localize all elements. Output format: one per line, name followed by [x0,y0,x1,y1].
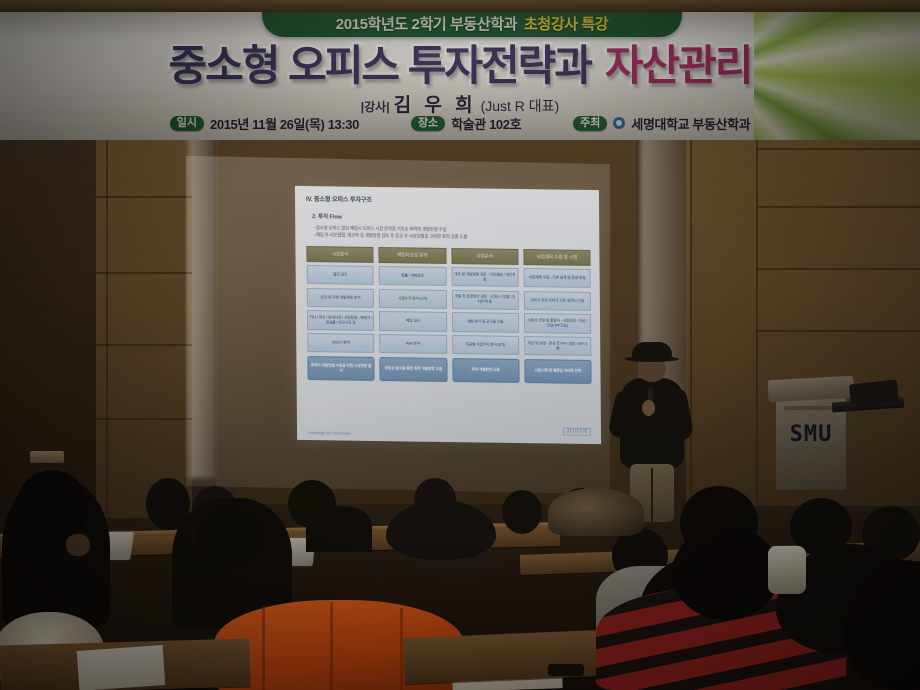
fur-trimmed-hood [548,488,644,536]
presenter-hat-brim [625,356,679,362]
podium-groove [784,406,838,410]
date-value: 2015년 11월 26일(목) 13:30 [210,114,359,133]
flow-cell: 개요 및 개발방향 검토 - 리모델링 / 재건축 등 [451,267,518,287]
wall-seam [96,196,192,198]
justr-logo: JUSTR [563,428,591,436]
wall-vertical-seam [106,122,108,514]
white-sleeve [768,546,806,594]
flow-cell: 물건 검토 [307,265,374,285]
flow-cell: 법률 / 세제검토 [379,266,446,286]
wall-outlet [30,451,64,463]
presentation-slide: IV. 중소형 오피스 투자구조 2. 투자 Flow 중소형 오피스 빌딩 매… [295,186,601,444]
flow-conclusion-cell: 타당성 분석을 통한 최적 개발방향 도출 [380,357,447,382]
flow-column-header: 사업계획 수립 및 시행 [523,249,590,266]
podium-top-surface [767,376,854,402]
puffer-seam [400,608,403,690]
date-label-pill: 일시 [170,116,204,131]
wall-seam [96,418,192,420]
wall-vertical-seam [756,128,758,506]
slide-footer-tagline: Knowledge for Real Estate [308,431,351,436]
flow-column-header: 매입타당성 분석 [379,247,446,264]
puffer-seam [262,606,265,690]
university-emblem-icon [613,117,625,129]
flow-conclusion-cell: 최적 개발방안 도출 [452,358,519,383]
wall-seam [96,344,192,346]
flow-cell: 시공사 선정 및 통합사 - 사업관리 / 자금 / 조달 (PF조달) [524,313,591,333]
banner-host-group: 주최 세명대학교 부동산학과 [573,114,750,133]
flow-conclusion-cell: 최적의 개발컨셉 수립을 위한 시장현황 분석 [307,356,374,381]
flow-cell: SWOT 분석 [307,333,374,353]
slide-section-title: IV. 중소형 오피스 투자구조 [306,194,590,207]
flow-cell: 자금별 사업수지 분석 (2차) [452,335,519,355]
puffer-seam [330,602,333,690]
audience-head [306,506,372,552]
speaker-tag: |강사| [361,100,390,114]
banner-date-group: 일시 2015년 11월 26일(목) 13:30 [170,114,359,133]
wall-seam [756,148,920,150]
audience-head [16,470,88,542]
host-value: 세명대학교 부동산학과 [631,114,750,133]
remote-control [548,664,584,676]
event-banner: 2015학년도 2학기 부동산학과 초청강사 특강 중소형 오피스 투자전략과 … [0,0,920,140]
title-part-1: 중소형 오피스 투자전략과 [169,32,591,93]
presenter-hand [642,400,655,416]
flow-cell: 사업수지 분석 (1차) [379,289,446,309]
place-label-pill: 장소 [411,116,445,131]
slide-bullet-list: 중소형 오피스 빌딩 매입시 오피스 시장 분석을 기초로 최적의 개발컨셉 수… [314,224,590,242]
speaker-affiliation: (Just R 대표) [481,98,560,114]
slide-content: IV. 중소형 오피스 투자구조 2. 투자 Flow 중소형 오피스 빌딩 매… [295,186,601,444]
wall-seam [756,268,920,270]
banner-main-title: 중소형 오피스 투자전략과 자산관리 [0,34,920,90]
lectern-podium: SMU [772,378,850,490]
title-part-2: 자산관리 [605,32,752,93]
flow-cell: 인허가 관련 인허가 건축 설계사 선정 [524,291,591,311]
wall-seam [756,330,920,332]
wall-panel-left [96,118,192,518]
smu-logo: SMU [772,422,850,447]
banner-place-group: 장소 학술관 102호 [411,114,521,133]
lecture-hall-photograph: 2015학년도 2학기 부동산학과 초청강사 특강 중소형 오피스 투자전략과 … [0,0,920,690]
flow-cell: Risk 분석 [379,334,446,354]
handout-paper [77,645,166,690]
wall-seam [96,272,192,274]
flow-cell: 개발 후 운영방안 검토 - 오피스 / 호텔 / 임대주택 등 [451,290,518,310]
audience-head [502,490,542,534]
flow-cell: 자금 및 분양 - 준공 후 PM / 임대 / AM 수행 [524,336,591,356]
audience-hand [66,534,90,556]
host-label-pill: 주최 [573,116,607,131]
flow-conclusion-cell: 사업시행 및 밸류업 극대화 전략 [524,359,591,384]
flow-column-header: 시장분석 [306,246,373,263]
flow-column-header: 사업분석 [451,248,518,265]
flow-cell: 개발 방식 및 공사물 산출 [451,312,518,332]
wall-seam [756,206,920,208]
slide-flow-table: 시장분석 매입타당성 분석 사업분석 사업계획 수립 및 시행 물건 검토 법률… [306,246,591,384]
flow-cell: 거시 / 미시 / 임대시장 / 사업환경 - 매매가 / 공실률 / 인구구조… [307,310,374,330]
banner-details-row: 일시 2015년 11월 26일(목) 13:30 장소 학술관 102호 주최… [0,113,920,133]
flow-cell: 입지 및 주변 개발계획 분석 [307,288,374,308]
slide-subtitle: 2. 투자 Flow [312,212,590,224]
audience-head [196,506,266,568]
audience-head [672,526,780,620]
flow-cell: 사업계획 수립 - 기본 설계 및 콘셉 확정 [523,268,590,288]
flow-cell: 매입 실사 [379,311,446,331]
place-value: 학술관 102호 [451,114,521,133]
desk-row-front-right [403,630,605,684]
presenter-leg-separation [651,468,653,522]
banner-top-rail [0,0,920,12]
